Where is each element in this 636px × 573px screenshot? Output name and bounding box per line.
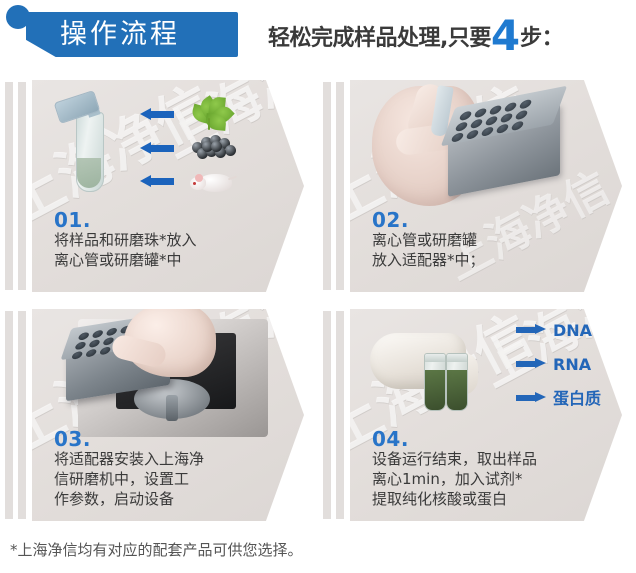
headline-prefix: 轻松完成样品处理,只要 <box>268 26 491 51</box>
step-text-line: 离心管或研磨罐 <box>372 230 485 250</box>
step-text-line: 作参数，启动设备 <box>54 489 204 509</box>
infographic-page: 操作流程 轻松完成样品处理,只要4步： 上海净信 上海净信 <box>0 0 636 573</box>
output-row-protein: 蛋白质 <box>516 389 601 409</box>
step-number-02: 02. <box>372 208 409 232</box>
step-text-line: 提取纯化核酸或蛋白 <box>372 489 537 509</box>
mouse-sample-icon <box>190 168 236 194</box>
output-label: DNA <box>553 321 592 340</box>
decor-bar-left-inner <box>336 311 344 519</box>
decor-bar-left-outer <box>323 311 331 519</box>
step-card-body-03: 上海净信 上海净信 03. <box>32 309 304 521</box>
left-arrow-icon <box>140 108 174 120</box>
grinding-beads-icon <box>192 135 236 159</box>
leaf-sample-icon <box>192 96 230 130</box>
section-title: 操作流程 <box>60 15 240 55</box>
output-label: 蛋白质 <box>553 389 601 408</box>
step-photo-02 <box>350 80 622 208</box>
headline-suffix: 步： <box>520 26 563 51</box>
steps-grid: 上海净信 上海净信 <box>0 72 636 530</box>
centrifuge-tube-icon <box>70 98 106 194</box>
tube-liquid <box>77 158 101 188</box>
step-text-02: 离心管或研磨罐 放入适配器*中； <box>372 230 485 270</box>
step-photo-04: DNA RNA 蛋白质 <box>350 309 622 437</box>
step-card-02: 上海净信 上海净信 02. <box>318 72 636 301</box>
hand-icon <box>124 309 216 377</box>
sample-vial-icon <box>424 353 446 411</box>
right-arrow-icon <box>516 325 546 335</box>
right-arrow-icon <box>516 359 546 369</box>
decor-bar-left-inner <box>18 311 26 519</box>
decor-bar-left-inner <box>18 82 26 290</box>
sample-vial-icon <box>446 353 468 411</box>
output-row-rna: RNA <box>516 355 591 375</box>
left-arrow-icon <box>140 142 174 154</box>
step-card-body-04: 上海净信 上海净信 DNA RNA 蛋白质 <box>350 309 622 521</box>
step-text-line: 设备运行结束，取出样品 <box>372 449 537 469</box>
step-text-line: 信研磨机中，设置工 <box>54 469 204 489</box>
right-arrow-icon <box>516 393 546 403</box>
step-text-03: 将适配器安装入上海净 信研磨机中，设置工 作参数，启动设备 <box>54 449 204 509</box>
step-card-body-02: 上海净信 上海净信 02. <box>350 80 622 292</box>
step-text-line: 将适配器安装入上海净 <box>54 449 204 469</box>
step-number-03: 03. <box>54 427 91 451</box>
step-card-04: 上海净信 上海净信 DNA RNA 蛋白质 <box>318 301 636 530</box>
step-number-01: 01. <box>54 208 91 232</box>
step-card-01: 上海净信 上海净信 <box>0 72 318 301</box>
decor-bar-left-outer <box>323 82 331 290</box>
decor-bar-left-inner <box>336 82 344 290</box>
step-card-03: 上海净信 上海净信 03. <box>0 301 318 530</box>
headline: 轻松完成样品处理,只要4步： <box>268 14 563 58</box>
step-text-04: 设备运行结束，取出样品 离心1min，加入试剂* 提取纯化核酸或蛋白 <box>372 449 537 509</box>
step-text-line: 离心管或研磨罐*中 <box>54 250 197 270</box>
step-photo-03 <box>32 309 304 437</box>
headline-step-count: 4 <box>491 11 520 60</box>
step-photo-01 <box>32 80 304 208</box>
decor-bar-left-outer <box>5 82 13 290</box>
output-row-dna: DNA <box>516 321 592 341</box>
step-text-01: 将样品和研磨珠*放入 离心管或研磨罐*中 <box>54 230 197 270</box>
step-number-04: 04. <box>372 427 409 451</box>
step-text-line: 离心1min，加入试剂* <box>372 469 537 489</box>
decor-bar-left-outer <box>5 311 13 519</box>
footer-note: *上海净信均有对应的配套产品可供您选择。 <box>10 538 610 562</box>
step-text-line: 将样品和研磨珠*放入 <box>54 230 197 250</box>
page-header: 操作流程 轻松完成样品处理,只要4步： <box>0 0 636 70</box>
step-card-body-01: 上海净信 上海净信 <box>32 80 304 292</box>
output-label: RNA <box>553 355 591 374</box>
left-arrow-icon <box>140 175 174 187</box>
step-text-line: 放入适配器*中； <box>372 250 485 270</box>
